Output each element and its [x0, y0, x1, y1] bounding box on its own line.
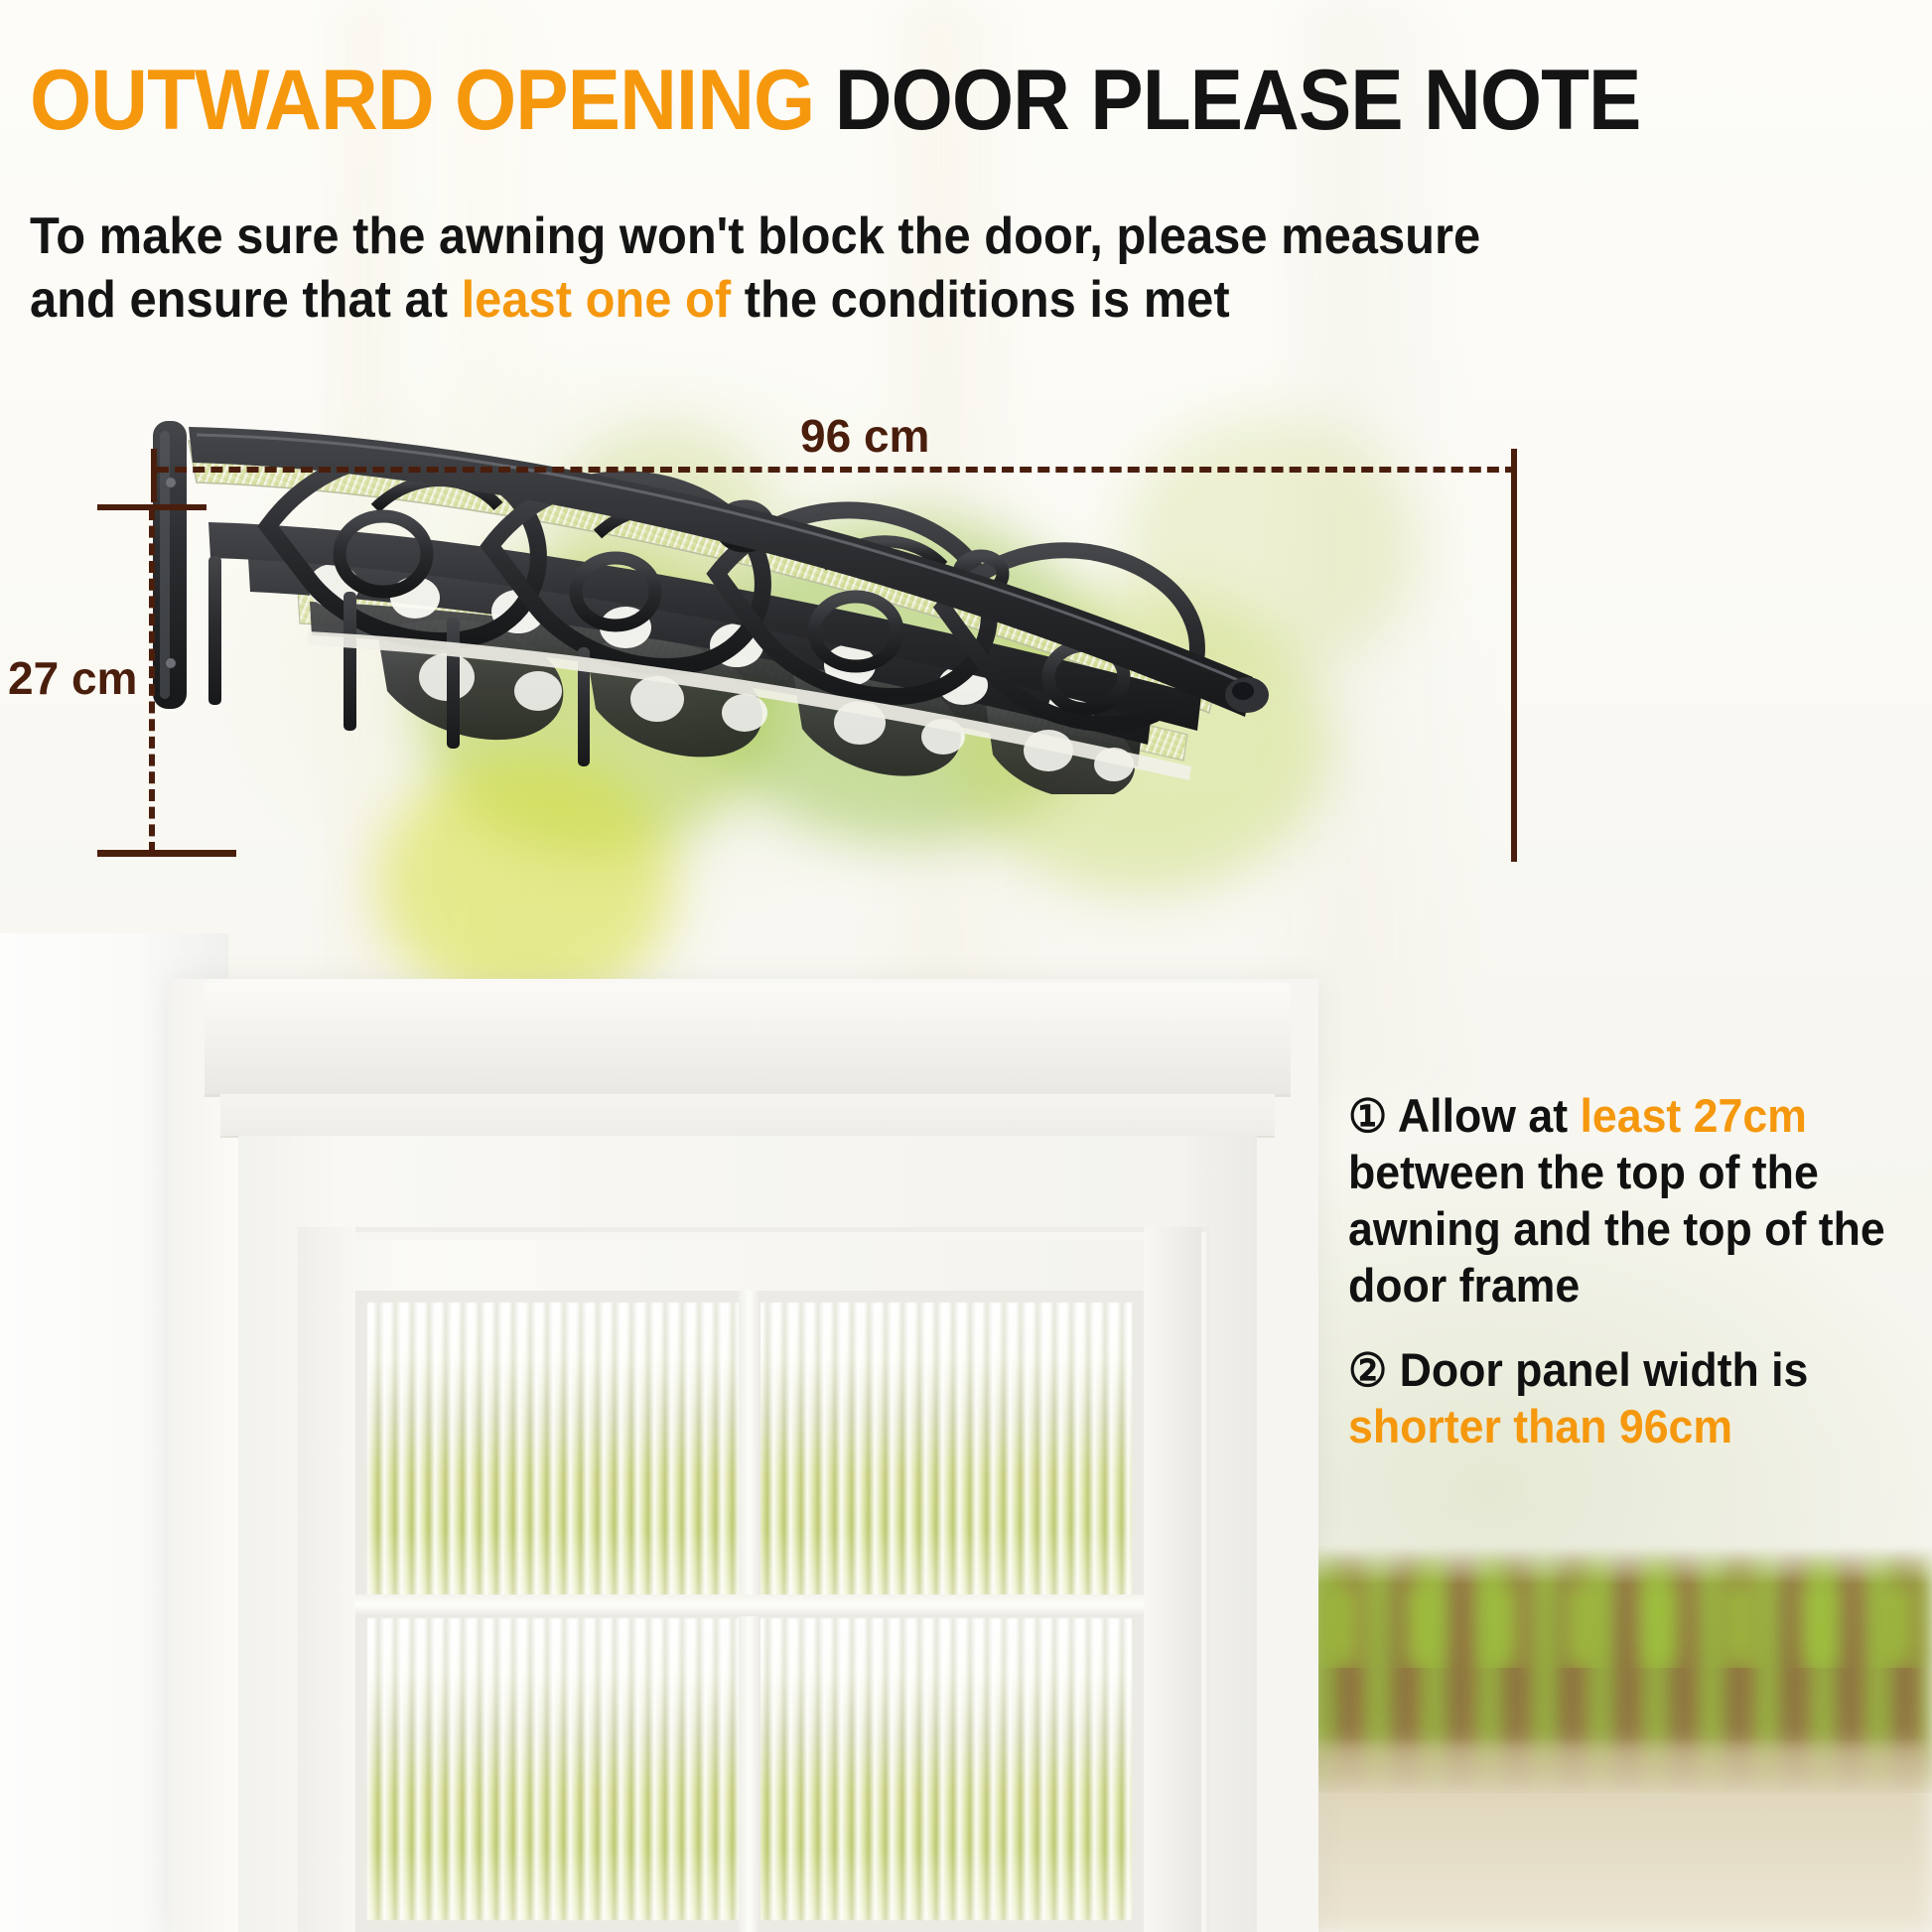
- dim-height-bottom-tick: [97, 850, 236, 857]
- headline-highlight: OUTWARD OPENING: [30, 53, 814, 148]
- subtitle-line2-b: the conditions is met: [731, 271, 1229, 329]
- condition-2-highlight: shorter than 96cm: [1348, 1400, 1732, 1452]
- door-muntin-horizontal: [355, 1594, 1144, 1616]
- subtitle-line-2: and ensure that at least one of the cond…: [30, 270, 1616, 331]
- dim-height-label: 27 cm: [8, 651, 137, 705]
- door-glass-pane: [757, 1303, 1132, 1600]
- dim-width-right-tick: [1511, 449, 1517, 862]
- condition-1-marker: ①: [1348, 1090, 1387, 1142]
- condition-1-highlight: least 27cm: [1581, 1089, 1807, 1142]
- subtitle-line-1: To make sure the awning won't block the …: [30, 207, 1616, 267]
- subtitle-line2-a: and ensure that at: [30, 271, 462, 329]
- door-glass-pane: [367, 1618, 743, 1920]
- garden-ground: [1309, 1743, 1932, 1932]
- door-frame-lintel: [205, 983, 1291, 1097]
- garden-hedge-tips: [1309, 1549, 1932, 1668]
- dim-width-label: 96 cm: [800, 409, 929, 463]
- headline-rest: DOOR PLEASE NOTE: [835, 53, 1641, 148]
- door-frame-lintel-trim: [220, 1094, 1275, 1138]
- awning-end-cap: [1225, 677, 1269, 713]
- condition-1-text-a: Allow at: [1387, 1089, 1580, 1142]
- door-stile-left: [298, 1227, 355, 1932]
- dim-width-left-tick: [151, 449, 157, 502]
- condition-2-text-a: Door panel width is: [1387, 1343, 1808, 1396]
- infographic-canvas: 96 cm 27 cm OUTWARD OPENINGDOOR PLEASE N…: [0, 0, 1932, 1932]
- door-glass-pane: [367, 1303, 743, 1600]
- condition-item-2: ② Door panel width is shorter than 96cm: [1348, 1342, 1895, 1455]
- condition-2-marker: ②: [1348, 1344, 1387, 1396]
- dim-height-dashed-line: [149, 508, 155, 854]
- condition-item-1: ① Allow at least 27cm between the top of…: [1348, 1088, 1895, 1313]
- door-glass-pane: [757, 1618, 1132, 1920]
- page-title: OUTWARD OPENINGDOOR PLEASE NOTE: [30, 58, 1640, 143]
- door-stile-right: [1144, 1227, 1201, 1932]
- dim-width-dashed-line: [157, 467, 1517, 473]
- subtitle-highlight: least one of: [462, 271, 732, 329]
- condition-1-text-b: between the top of the awning and the to…: [1348, 1146, 1885, 1311]
